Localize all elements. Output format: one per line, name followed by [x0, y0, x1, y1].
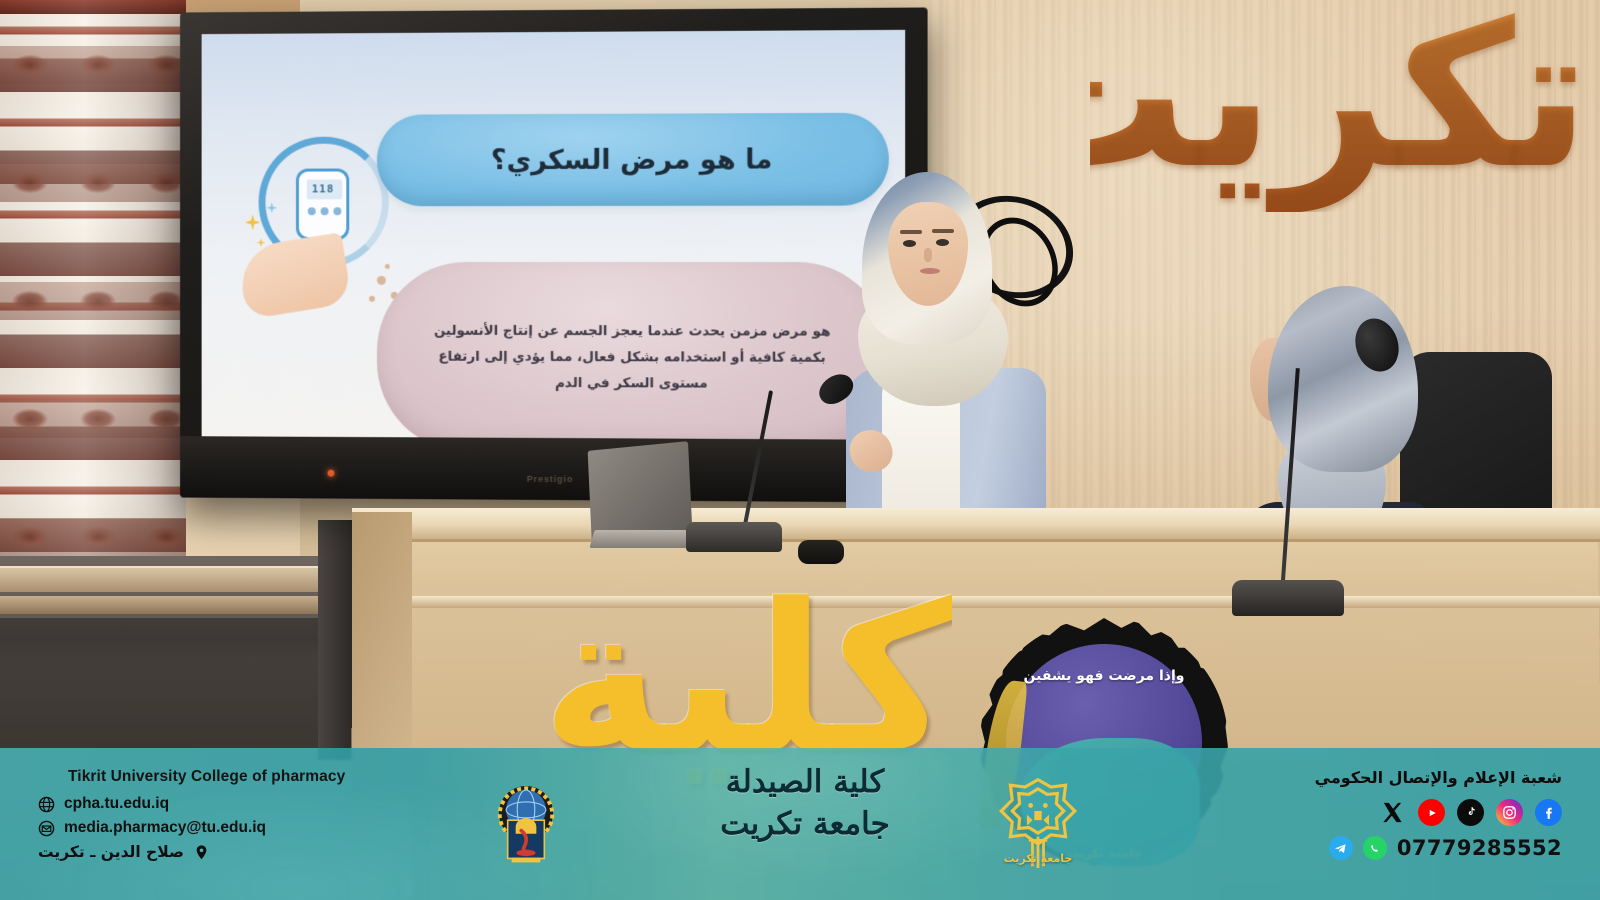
footer-calligraphy-block: كلية الصيدلة جامعة تكريت: [680, 762, 930, 846]
eye: [936, 239, 949, 246]
footer-social-block: شعبة الإعلام والإتصال الحكومي: [1315, 768, 1562, 860]
cabinet-post: [318, 520, 352, 760]
microphone-base: [1232, 580, 1344, 616]
presentation-display[interactable]: ما هو مرض السكري؟ هو مرض مزمن يحدث عندما…: [180, 7, 928, 502]
hand-illustration: [236, 232, 352, 319]
college-of-pharmacy-logo: [486, 778, 566, 864]
microphone-base: [686, 522, 782, 552]
footer-info-bar: Tikrit University College of pharmacy cp…: [0, 748, 1600, 900]
desk-surface: [352, 508, 1600, 542]
glucometer-device: [296, 168, 349, 240]
footer-address-text: صلاح الدين ـ تكريت: [38, 843, 184, 861]
wall-sign-text: تكريت: [1090, 0, 1590, 212]
footer-social-icons: [1315, 799, 1562, 826]
footer-phone-number: 07779285552: [1397, 836, 1562, 860]
globe-icon: [38, 796, 55, 813]
footer-website-row[interactable]: cpha.tu.edu.iq: [38, 795, 438, 813]
power-led-indicator: [328, 470, 335, 477]
eye: [903, 240, 916, 247]
footer-email-row[interactable]: media.pharmacy@tu.edu.iq: [38, 819, 438, 837]
footer-phone-row: 07779285552: [1315, 836, 1562, 860]
display-brand-label: Prestigio: [527, 474, 574, 484]
presenter-nose: [924, 248, 932, 262]
footer-website-text: cpha.tu.edu.iq: [64, 795, 169, 813]
presentation-slide: ما هو مرض السكري؟ هو مرض مزمن يحدث عندما…: [202, 30, 906, 440]
curtain-shading: [0, 0, 186, 640]
footer-calligraphy-line1: كلية الصيدلة: [680, 762, 930, 804]
cabinet-rail-lower: [0, 596, 356, 614]
presenter-mouth: [920, 268, 940, 274]
decorative-dots: [237, 128, 411, 129]
sparkle-icon: [257, 238, 266, 247]
instagram-icon[interactable]: [1496, 799, 1523, 826]
laptop-screen[interactable]: [588, 441, 693, 543]
display-bezel: Prestigio: [180, 436, 928, 502]
footer-email-text: media.pharmacy@tu.edu.iq: [64, 819, 266, 837]
telegram-icon[interactable]: [1329, 836, 1353, 860]
eyebrow: [932, 229, 954, 233]
glucometer-buttons: [308, 207, 342, 215]
wall-sign-tikrit: تكريت: [1090, 0, 1590, 212]
cabinet-shadow-panel: [0, 618, 352, 748]
window-blind-curtain: [0, 0, 186, 640]
slide-body-pill: هو مرض مزمن يحدث عندما يعجز الجسم عن إنت…: [377, 262, 889, 440]
seal-verse-text: وإذا مرضت فهو يشفين: [1006, 668, 1202, 684]
footer-department-title: شعبة الإعلام والإتصال الحكومي: [1315, 768, 1562, 787]
slide-body-text: هو مرض مزمن يحدث عندما يعجز الجسم عن إنت…: [421, 317, 845, 397]
footer-calligraphy-line2: جامعة تكريت: [680, 804, 930, 846]
sparkle-icon: [245, 214, 261, 230]
footer-college-title: Tikrit University College of pharmacy: [68, 768, 438, 786]
cabinet-rail-upper: [0, 566, 362, 592]
location-pin-icon: [193, 844, 210, 861]
eyebrow: [900, 230, 922, 234]
whatsapp-icon[interactable]: [1363, 836, 1387, 860]
tikrit-university-logo-label: جامعة تكريت: [986, 852, 1090, 865]
footer-contact-block: Tikrit University College of pharmacy cp…: [38, 768, 438, 867]
tiktok-icon[interactable]: [1457, 799, 1484, 826]
facebook-icon[interactable]: [1535, 799, 1562, 826]
desk-device: [798, 540, 844, 564]
x-twitter-icon[interactable]: [1379, 799, 1406, 826]
youtube-icon[interactable]: [1418, 799, 1445, 826]
glucometer-display: [307, 179, 343, 199]
display-screen: ما هو مرض السكري؟ هو مرض مزمن يحدث عندما…: [202, 30, 906, 440]
slide-title-text: ما هو مرض السكري؟: [491, 144, 772, 176]
envelope-icon: [38, 820, 55, 837]
footer-address-row: صلاح الدين ـ تكريت: [38, 843, 236, 861]
screenshot-root: تكريت: [0, 0, 1600, 900]
slide-title-pill: ما هو مرض السكري؟: [377, 113, 889, 207]
